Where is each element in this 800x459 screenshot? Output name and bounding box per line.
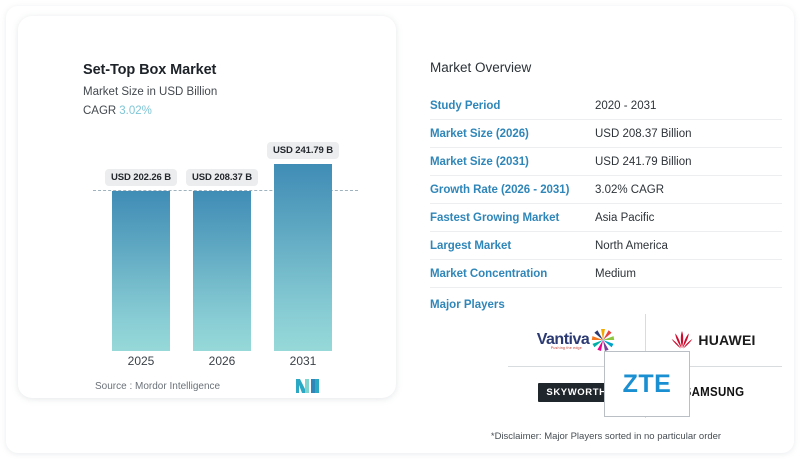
bar-2025 (112, 191, 170, 351)
mordor-intelligence-logo-icon (296, 378, 320, 393)
table-row: Study Period 2020 - 2031 (430, 92, 782, 120)
row-label: Growth Rate (2026 - 2031) (430, 184, 595, 196)
row-label: Market Size (2031) (430, 156, 595, 168)
bar-2031 (274, 164, 332, 351)
table-row: Growth Rate (2026 - 2031) 3.02% CAGR (430, 176, 782, 204)
row-label: Largest Market (430, 240, 595, 252)
table-row: Market Size (2026) USD 208.37 Billion (430, 120, 782, 148)
row-value: Asia Pacific (595, 212, 654, 224)
huawei-logo-icon: HUAWEI (671, 330, 755, 350)
major-players-logos: Vantiva Pushing the edge (508, 314, 782, 418)
source-text: Source : Mordor Intelligence (95, 381, 220, 392)
row-value: 2020 - 2031 (595, 100, 656, 112)
bar-group-2026: USD 208.37 B (193, 136, 251, 351)
chart-subtitle: Market Size in USD Billion (83, 86, 217, 98)
overview-title: Market Overview (430, 60, 531, 75)
x-axis: 2025 2026 2031 (83, 354, 358, 372)
huawei-wordmark: HUAWEI (698, 332, 755, 348)
row-value: Medium (595, 268, 636, 280)
samsung-wordmark: SAMSUNG (683, 385, 744, 399)
row-label: Fastest Growing Market (430, 212, 595, 224)
huawei-flower-icon (671, 330, 693, 350)
bar-group-2031: USD 241.79 B (274, 136, 332, 351)
bar-chart-plot: USD 202.26 B USD 208.37 B USD 241.79 B (83, 136, 358, 351)
cagr-label: CAGR (83, 105, 116, 117)
player-logo-zte: ZTE (604, 351, 690, 417)
chart-title: Set-Top Box Market (83, 62, 216, 78)
cagr-value: 3.02% (119, 105, 152, 117)
row-value: USD 241.79 Billion (595, 156, 692, 168)
bar-value-label: USD 208.37 B (186, 169, 258, 186)
vantiva-wordmark: Vantiva Pushing the edge (537, 332, 590, 348)
bar-value-label: USD 202.26 B (105, 169, 177, 186)
row-label: Market Size (2026) (430, 128, 595, 140)
x-tick-label: 2025 (112, 354, 170, 368)
market-overview-panel: Market Overview Study Period 2020 - 2031… (430, 16, 782, 446)
table-row: Largest Market North America (430, 232, 782, 260)
table-row: Market Size (2031) USD 241.79 Billion (430, 148, 782, 176)
disclaimer-text: *Disclaimer: Major Players sorted in no … (430, 431, 782, 442)
zte-wordmark: ZTE (623, 370, 672, 399)
report-card: Set-Top Box Market Market Size in USD Bi… (6, 6, 794, 453)
table-row: Fastest Growing Market Asia Pacific (430, 204, 782, 232)
x-tick-label: 2031 (274, 354, 332, 368)
vantiva-pinwheel-icon (590, 327, 616, 353)
x-tick-label: 2026 (193, 354, 251, 368)
vantiva-tagline: Pushing the edge (551, 347, 582, 351)
row-value: 3.02% CAGR (595, 184, 664, 196)
row-value: North America (595, 240, 668, 252)
bar-value-label: USD 241.79 B (267, 142, 339, 159)
row-label: Market Concentration (430, 268, 595, 280)
major-players-title: Major Players (430, 299, 505, 311)
bar-group-2025: USD 202.26 B (112, 136, 170, 351)
vantiva-logo-icon: Vantiva Pushing the edge (537, 327, 617, 353)
row-value: USD 208.37 Billion (595, 128, 692, 140)
chart-card: Set-Top Box Market Market Size in USD Bi… (18, 16, 396, 398)
cagr-row: CAGR3.02% (83, 105, 152, 117)
bar-2026 (193, 191, 251, 351)
row-label: Study Period (430, 100, 595, 112)
table-row: Market Concentration Medium (430, 260, 782, 288)
overview-table: Study Period 2020 - 2031 Market Size (20… (430, 92, 782, 288)
